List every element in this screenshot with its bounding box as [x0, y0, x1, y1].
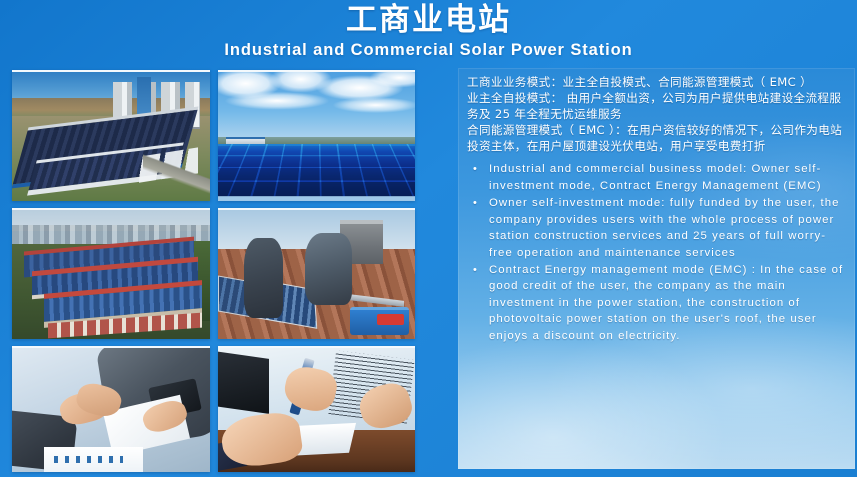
red-roof-factory-illustration [12, 210, 210, 339]
list-item: • Contract Energy management mode (EMC) … [467, 262, 845, 344]
slide-header: 工商业电站 Industrial and Commercial Solar Po… [0, 0, 857, 66]
page-title-chinese: 工商业电站 [346, 2, 511, 39]
photo-aerial-industrial-plant-solar-roof [12, 70, 210, 201]
handshake-illustration [12, 348, 210, 472]
list-item: • Owner self-investment mode: fully fund… [467, 195, 845, 261]
photo-workers-installing-solar-panels [218, 208, 415, 339]
chinese-paragraph-2: 业主全自投模式： 由用户全额出资，公司为用户提供电站建设全流程服务及 25 年全… [467, 90, 845, 122]
bullet-icon: • [473, 161, 478, 177]
photo-red-roof-factory-solar-panels [12, 208, 210, 339]
contract-signing-illustration [218, 348, 415, 472]
rooftop-array-illustration [218, 72, 415, 201]
chinese-paragraph-3: 合同能源管理模式（ EMC ）：在用户资信较好的情况下，公司作为电站投资主体，在… [467, 122, 845, 154]
bullet-icon: • [473, 195, 478, 211]
photo-rooftop-solar-array-blue-sky [218, 70, 415, 201]
description-panel: 工商业业务模式：业主全自投模式、合同能源管理模式（ EMC ） 业主全自投模式：… [458, 68, 855, 469]
installers-illustration [218, 210, 415, 339]
photo-gallery [12, 70, 415, 470]
chinese-paragraph-1: 工商业业务模式：业主全自投模式、合同能源管理模式（ EMC ） [467, 74, 845, 90]
english-bullet-list: • Industrial and commercial business mod… [467, 161, 845, 343]
aerial-plant-illustration [12, 72, 210, 201]
page-subtitle-english: Industrial and Commercial Solar Power St… [224, 40, 632, 61]
list-item-text: Industrial and commercial business model… [489, 163, 822, 191]
chinese-description-block: 工商业业务模式：业主全自投模式、合同能源管理模式（ EMC ） 业主全自投模式：… [467, 74, 845, 154]
photo-signing-contract-with-pen [218, 346, 415, 472]
slide-root: 工商业电站 Industrial and Commercial Solar Po… [0, 0, 857, 477]
bullet-icon: • [473, 262, 478, 278]
list-item: • Industrial and commercial business mod… [467, 161, 845, 194]
list-item-text: Owner self-investment mode: fully funded… [489, 197, 839, 258]
photo-business-handshake [12, 346, 210, 472]
list-item-text: Contract Energy management mode (EMC) : … [489, 264, 843, 342]
